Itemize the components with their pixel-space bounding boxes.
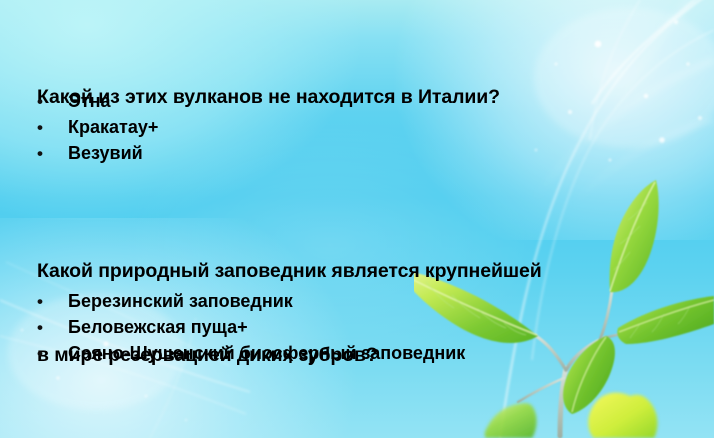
question-2-options: • Березинский заповедник • Беловежская п… <box>37 288 465 366</box>
bullet-icon: • <box>37 115 68 141</box>
option-item[interactable]: • Этна <box>37 88 158 114</box>
quiz-slide: Какой из этих вулканов не находится в Ит… <box>0 0 714 438</box>
option-item[interactable]: • Березинский заповедник <box>37 288 465 314</box>
option-label: Этна <box>68 88 111 114</box>
bullet-icon: • <box>37 289 68 315</box>
bullet-icon: • <box>37 315 68 341</box>
option-label: Кракатау+ <box>68 114 158 140</box>
option-label: Везувий <box>68 140 143 166</box>
option-item[interactable]: • Саяно-Шушенский биосферный заповедник <box>37 340 465 366</box>
option-item[interactable]: • Кракатау+ <box>37 114 158 140</box>
option-label: Березинский заповедник <box>68 288 293 314</box>
question-1-options: • Этна • Кракатау+ • Везувий <box>37 88 158 166</box>
bullet-icon: • <box>37 89 68 115</box>
option-label: Саяно-Шушенский биосферный заповедник <box>68 340 465 366</box>
slide-text-content: Какой из этих вулканов не находится в Ит… <box>0 0 714 438</box>
bullet-icon: • <box>37 341 68 367</box>
option-item[interactable]: • Везувий <box>37 140 158 166</box>
option-label: Беловежская пуща+ <box>68 314 248 340</box>
question-2-line-1: Какой природный заповедник является круп… <box>37 257 542 285</box>
option-item[interactable]: • Беловежская пуща+ <box>37 314 465 340</box>
bullet-icon: • <box>37 141 68 167</box>
